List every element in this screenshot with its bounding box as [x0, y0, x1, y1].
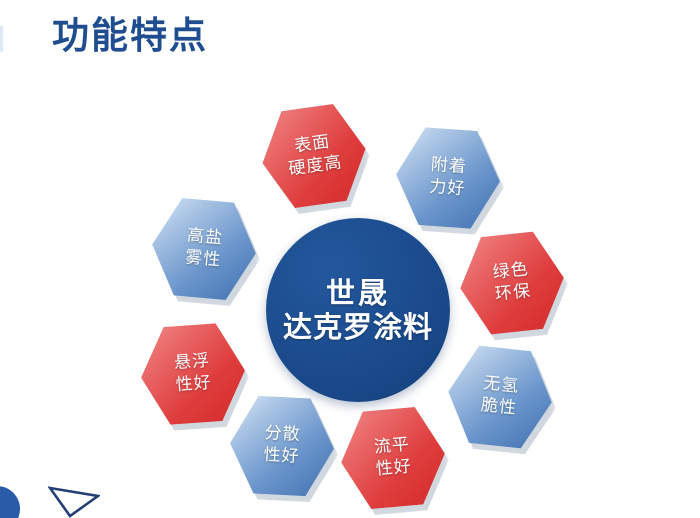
center-line-2: 达克罗涂料	[283, 310, 433, 344]
hexagon-label-line-1: 高盐	[186, 226, 224, 251]
hexagon-label-line-2: 环保	[494, 281, 532, 306]
center-line-1: 世晟	[326, 276, 390, 310]
hexagon-node-dispersion[interactable]: 分散性好	[227, 391, 336, 500]
center-circle: 世晟 达克罗涂料	[266, 218, 450, 402]
hexagon-node-hardness[interactable]: 表面硬度高	[255, 97, 372, 214]
hexagon-label-line-2: 力好	[429, 177, 466, 201]
hexagon-node-adhesion[interactable]: 附着力好	[392, 122, 503, 233]
feature-hexagon-diagram: 表面硬度高附着力好绿色环保无氢脆性流平性好分散性好悬浮性好高盐雾性 世晟 达克罗…	[0, 0, 700, 518]
hexagon-label-line-1: 附着	[430, 155, 467, 179]
hexagon-label-line-1: 悬浮	[174, 351, 211, 375]
hexagon-node-saltspray[interactable]: 高盐雾性	[148, 193, 261, 306]
hexagon-label-line-2: 性好	[263, 445, 300, 469]
hexagon-label-line-2: 脆性	[480, 395, 518, 420]
hexagon-label-line-2: 雾性	[184, 247, 222, 272]
hexagon-node-hydrogen[interactable]: 无氢脆性	[443, 340, 557, 454]
slide-canvas: 功能特点 表面硬度高附着力好绿色环保无氢脆性流平性好分散性好悬浮性好高盐雾性 世…	[0, 0, 700, 518]
hexagon-label-line-2: 性好	[175, 373, 212, 397]
hexagon-label-line-2: 性好	[375, 456, 413, 481]
hexagon-label-line-1: 分散	[264, 423, 301, 447]
hexagon-node-eco[interactable]: 绿色环保	[455, 226, 569, 340]
triangle-outline-icon	[48, 484, 100, 518]
